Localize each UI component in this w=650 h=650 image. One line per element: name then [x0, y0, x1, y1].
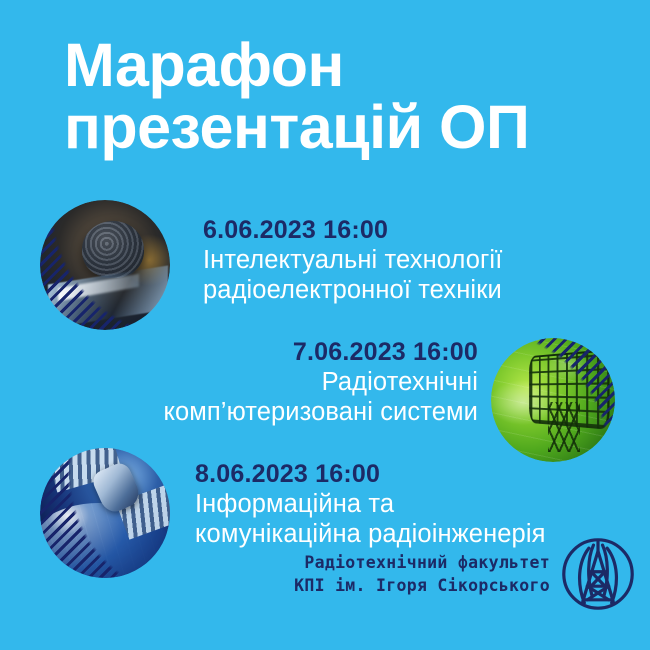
- footer-line-1: Радіотехнічний факультет: [294, 551, 550, 574]
- poster-canvas: Марафон презентацій ОП 6.06.2023 16:00 І…: [0, 0, 650, 650]
- event-description-2: Радіотехнічні комп’ютеризовані системи: [163, 368, 478, 427]
- event-date-1: 6.06.2023 16:00: [203, 215, 502, 246]
- footer-line-2: КПІ ім. Ігоря Сікорського: [294, 574, 550, 597]
- title-line-1: Марафон: [64, 34, 634, 96]
- event-description-1-line-1: Інтелектуальні технології: [203, 246, 502, 276]
- event-description-1: Інтелектуальні технології радіоелектронн…: [203, 246, 502, 305]
- brain-on-platform-photo: [40, 200, 170, 330]
- event-item-2: 7.06.2023 16:00 Радіотехнічні комп’ютери…: [163, 337, 478, 427]
- diagonal-stripes-decoration: [491, 338, 615, 462]
- green-radar-antenna-photo: [491, 338, 615, 462]
- event-item-1: 6.06.2023 16:00 Інтелектуальні технологі…: [203, 215, 502, 305]
- event-description-3-line-1: Інформаційна та: [195, 490, 546, 520]
- event-date-3: 8.06.2023 16:00: [195, 459, 546, 490]
- diagonal-stripes-decoration: [40, 200, 170, 330]
- title-line-2: презентацій ОП: [64, 96, 634, 158]
- event-description-2-line-2: комп’ютеризовані системи: [163, 398, 478, 428]
- event-description-1-line-2: радіоелектронної техніки: [203, 276, 502, 306]
- page-title: Марафон презентацій ОП: [64, 34, 634, 158]
- event-date-2: 7.06.2023 16:00: [163, 337, 478, 368]
- radio-tower-circle-logo: [560, 536, 636, 612]
- event-description-2-line-1: Радіотехнічні: [163, 368, 478, 398]
- footer-text: Радіотехнічний факультет КПІ ім. Ігоря С…: [294, 551, 550, 598]
- footer: Радіотехнічний факультет КПІ ім. Ігоря С…: [0, 536, 636, 612]
